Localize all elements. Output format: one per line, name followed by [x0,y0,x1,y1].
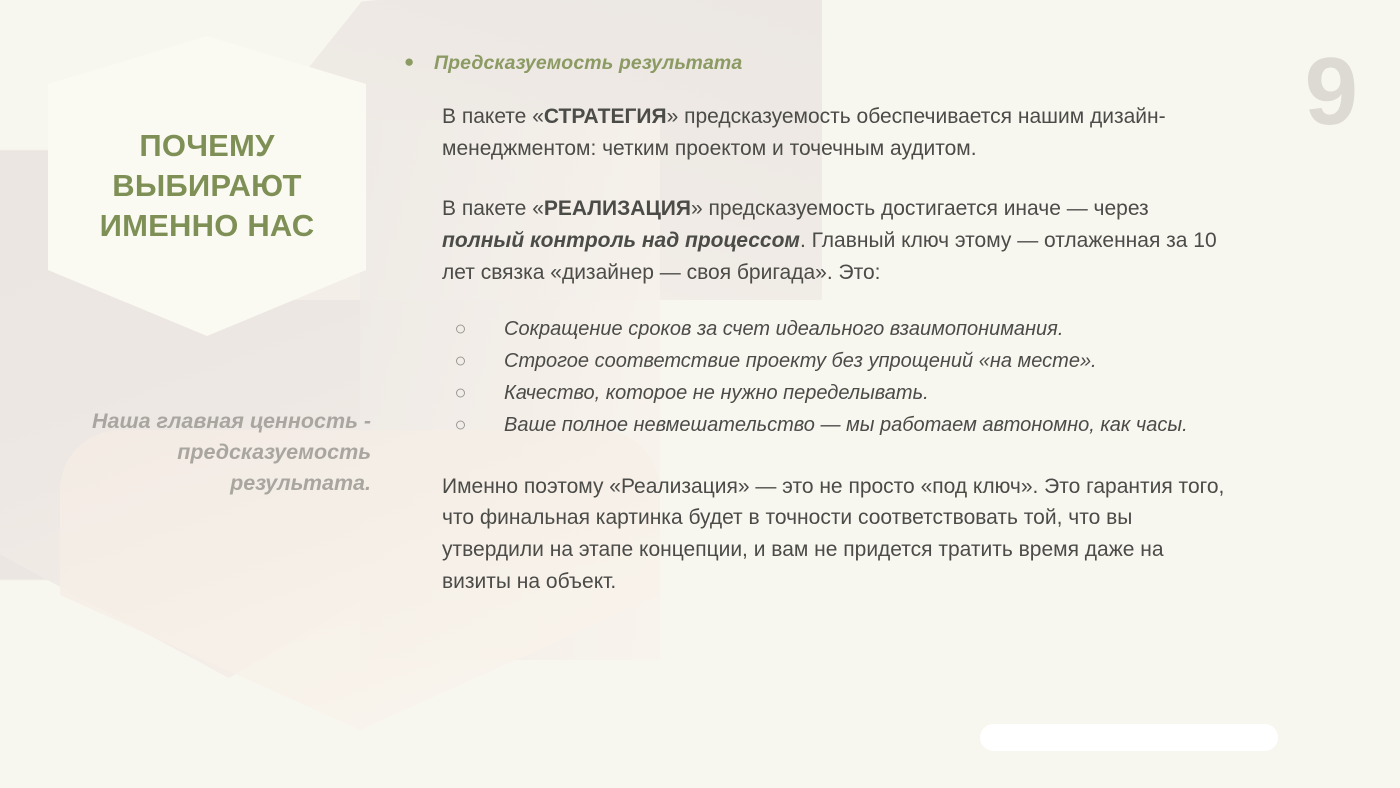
paragraph-strategy-part1: В пакете « [442,105,544,128]
paragraph-realization-bold-italic: полный контроль над процессом [442,229,800,252]
paragraph-closing: Именно поэтому «Реализация» — это не про… [442,471,1234,599]
section-heading-row: Предсказуемость результата [404,52,1234,75]
list-item: Ваше полное невмешательство — мы работае… [456,409,1234,441]
list-item: Сокращение сроков за счет идеального вза… [456,313,1234,345]
circle-bullet-icon [456,324,465,333]
paragraph-realization-part2: » предсказуемость достигается иначе — че… [691,197,1149,220]
slide-title: ПОЧЕМУ ВЫБИРАЮТ ИМЕННО НАС [86,126,329,245]
circle-bullet-icon [456,388,465,397]
main-content: Предсказуемость результата В пакете «СТР… [404,52,1234,626]
paragraph-realization-bold: РЕАЛИЗАЦИЯ [544,197,691,220]
slide-root: 9 ПОЧЕМУ ВЫБИРАЮТ ИМЕННО НАС Наша главна… [0,0,1400,788]
bullet-dot-icon [404,53,434,70]
benefits-list: Сокращение сроков за счет идеального вза… [404,313,1234,441]
list-item-label: Ваше полное невмешательство — мы работае… [504,414,1188,436]
circle-bullet-icon [456,420,465,429]
footer-pill [980,724,1278,751]
paragraph-strategy: В пакете «СТРАТЕГИЯ» предсказуемость обе… [442,101,1234,165]
paragraph-realization-part1: В пакете « [442,197,544,220]
list-item-label: Качество, которое не нужно переделывать. [504,382,929,404]
list-item: Строгое соответствие проекту без упрощен… [456,345,1234,377]
list-item: Качество, которое не нужно переделывать. [456,377,1234,409]
list-item-label: Сокращение сроков за счет идеального вза… [504,318,1063,340]
paragraph-strategy-bold: СТРАТЕГИЯ [544,105,667,128]
circle-bullet-icon [456,356,465,365]
list-item-label: Строгое соответствие проекту без упрощен… [504,350,1097,372]
paragraph-realization: В пакете «РЕАЛИЗАЦИЯ» предсказуемость до… [442,193,1234,289]
left-subtitle: Наша главная ценность - предсказуемость … [36,406,371,499]
hexagon-title-badge: ПОЧЕМУ ВЫБИРАЮТ ИМЕННО НАС [48,36,366,336]
page-number: 9 [1305,44,1356,140]
section-heading: Предсказуемость результата [434,52,742,75]
